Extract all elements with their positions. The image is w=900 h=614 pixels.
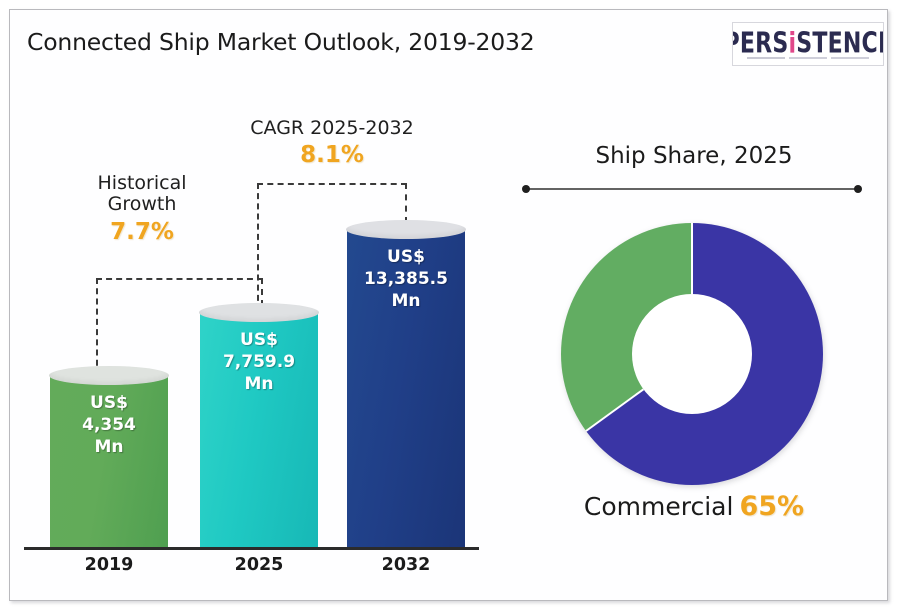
bar-cap-2025 (199, 303, 319, 322)
donut-slice-gap-start (691, 223, 693, 294)
bar-value-2032: US$ 13,385.5 Mn (347, 247, 465, 312)
bar-chart: Historical Growth 7.7% CAGR 2025-2032 8.… (14, 95, 484, 585)
historical-growth-caption: Historical Growth (98, 172, 187, 215)
annotation-cagr: CAGR 2025-2032 8.1% (222, 118, 442, 168)
donut-chart[interactable] (561, 223, 823, 485)
bar-2025[interactable]: US$ 7,759.9 Mn (200, 312, 318, 547)
bar-value-2025: US$ 7,759.9 Mn (200, 330, 318, 395)
donut-legend-label: Commercial (584, 492, 734, 521)
bar-2019[interactable]: US$ 4,354 Mn (50, 375, 168, 547)
donut-chart-panel: Ship Share, 2025 Commercial65% (500, 95, 888, 585)
logo-text-highlight: i (788, 27, 796, 60)
logo-wordmark: PERSiSTENCE (732, 30, 884, 59)
x-axis-line (24, 547, 479, 550)
page-title: Connected Ship Market Outlook, 2019-2032 (27, 28, 535, 56)
donut-legend: Commercial65% (500, 491, 888, 522)
x-axis-label-2025: 2025 (200, 555, 318, 575)
persistence-logo: PERSiSTENCE (732, 22, 884, 66)
bar-cap-2019 (49, 366, 169, 385)
cagr-caption: CAGR 2025-2032 (250, 117, 413, 139)
bar-value-2019: US$ 4,354 Mn (50, 393, 168, 458)
logo-underline (747, 57, 869, 60)
x-axis-label-2032: 2032 (347, 555, 465, 575)
logo-text-pre: PERS (732, 27, 788, 60)
donut-legend-value: 65% (739, 491, 804, 522)
logo-text-post: STENCE (796, 27, 884, 60)
bar-2032[interactable]: US$ 13,385.5 Mn (347, 229, 465, 547)
infographic-canvas: Connected Ship Market Outlook, 2019-2032… (0, 0, 900, 614)
donut-title-rule (526, 188, 858, 190)
x-axis-label-2019: 2019 (50, 555, 168, 575)
bar-cap-2032 (346, 220, 466, 239)
annotation-historical-growth: Historical Growth 7.7% (56, 173, 228, 245)
donut-title: Ship Share, 2025 (500, 143, 888, 169)
donut-hole (632, 294, 752, 414)
historical-growth-value: 7.7% (56, 219, 228, 245)
cagr-value: 8.1% (222, 142, 442, 168)
